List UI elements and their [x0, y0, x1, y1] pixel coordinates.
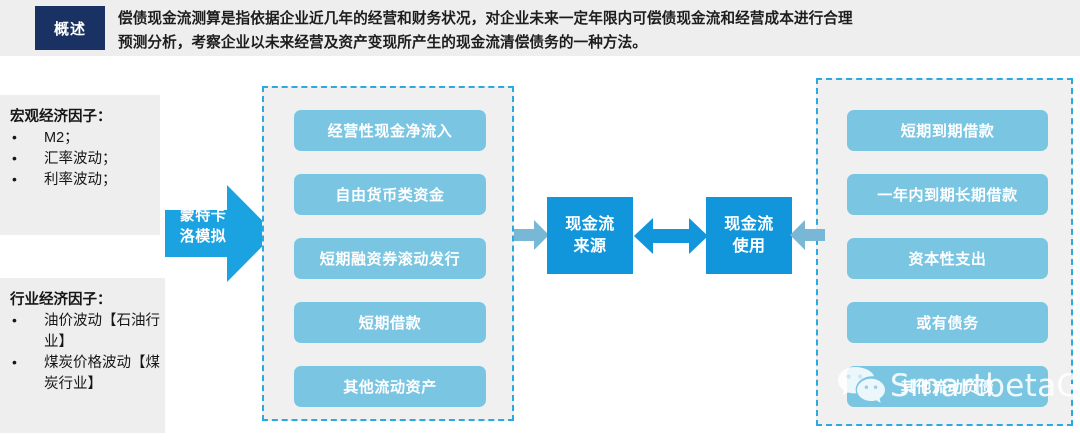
industry-factor-panel: 行业经济因子： 油价波动【石油行业】 煤炭价格波动【煤炭行业】	[0, 278, 165, 433]
macro-factor-panel: 宏观经济因子： M2； 汇率波动； 利率波动；	[0, 95, 160, 235]
macro-factor-list: M2； 汇率波动； 利率波动；	[0, 128, 160, 191]
arrow-right-icon	[514, 220, 549, 250]
list-item[interactable]: 短期融资券滚动发行	[294, 238, 486, 279]
cash-flow-source-core-line-1: 现金流	[565, 214, 615, 236]
double-arrow-icon	[634, 216, 708, 256]
list-item: 煤炭价格波动【煤炭行业】	[10, 353, 165, 395]
monte-carlo-label: 蒙特卡 洛模拟	[170, 205, 236, 247]
list-item[interactable]: 资本性支出	[847, 238, 1048, 279]
list-item: 利率波动；	[10, 170, 160, 191]
list-item: M2；	[10, 128, 160, 149]
macro-factor-title: 宏观经济因子：	[10, 105, 160, 126]
header-description: 偿债现金流测算是指依据企业近几年的经营和财务状况，对企业未来一定年限内可偿债现金…	[118, 7, 1056, 55]
list-item[interactable]: 或有债务	[847, 302, 1048, 343]
list-item: 汇率波动；	[10, 149, 160, 170]
monte-carlo-label-line-1: 蒙特卡	[170, 205, 236, 226]
cash-flow-use-core-box: 现金流 使用	[706, 197, 792, 274]
cash-flow-use-core-line-1: 现金流	[724, 214, 774, 236]
header-description-line-2: 预测分析，考察企业以未来经营及资产变现所产生的现金流清偿债务的一种方法。	[118, 31, 1056, 55]
header-description-line-1: 偿债现金流测算是指依据企业近几年的经营和财务状况，对企业未来一定年限内可偿债现金…	[118, 7, 1056, 31]
cash-flow-use-group: 短期到期借款 一年内到期长期借款 资本性支出 或有债务 其他流动负债	[816, 78, 1073, 426]
list-item[interactable]: 经营性现金净流入	[294, 110, 486, 151]
list-item[interactable]: 短期到期借款	[847, 110, 1048, 151]
industry-factor-list: 油价波动【石油行业】 煤炭价格波动【煤炭行业】	[0, 311, 165, 395]
header-badge: 概述	[35, 6, 105, 50]
cash-flow-source-core-box: 现金流 来源	[547, 197, 633, 274]
arrow-left-icon	[790, 220, 825, 250]
industry-factor-title: 行业经济因子：	[10, 288, 165, 309]
list-item[interactable]: 其他流动资产	[294, 366, 486, 407]
list-item[interactable]: 自由货币类资金	[294, 174, 486, 215]
slide-canvas: 概述 偿债现金流测算是指依据企业近几年的经营和财务状况，对企业未来一定年限内可偿…	[0, 0, 1080, 440]
cash-flow-source-core-line-2: 来源	[565, 236, 615, 258]
cash-flow-use-core-line-2: 使用	[724, 236, 774, 258]
list-item[interactable]: 一年内到期长期借款	[847, 174, 1048, 215]
list-item[interactable]: 其他流动负债	[847, 366, 1048, 407]
list-item: 油价波动【石油行业】	[10, 311, 165, 353]
list-item[interactable]: 短期借款	[294, 302, 486, 343]
monte-carlo-label-line-2: 洛模拟	[170, 226, 236, 247]
cash-flow-source-group: 经营性现金净流入 自由货币类资金 短期融资券滚动发行 短期借款 其他流动资产	[262, 86, 514, 421]
